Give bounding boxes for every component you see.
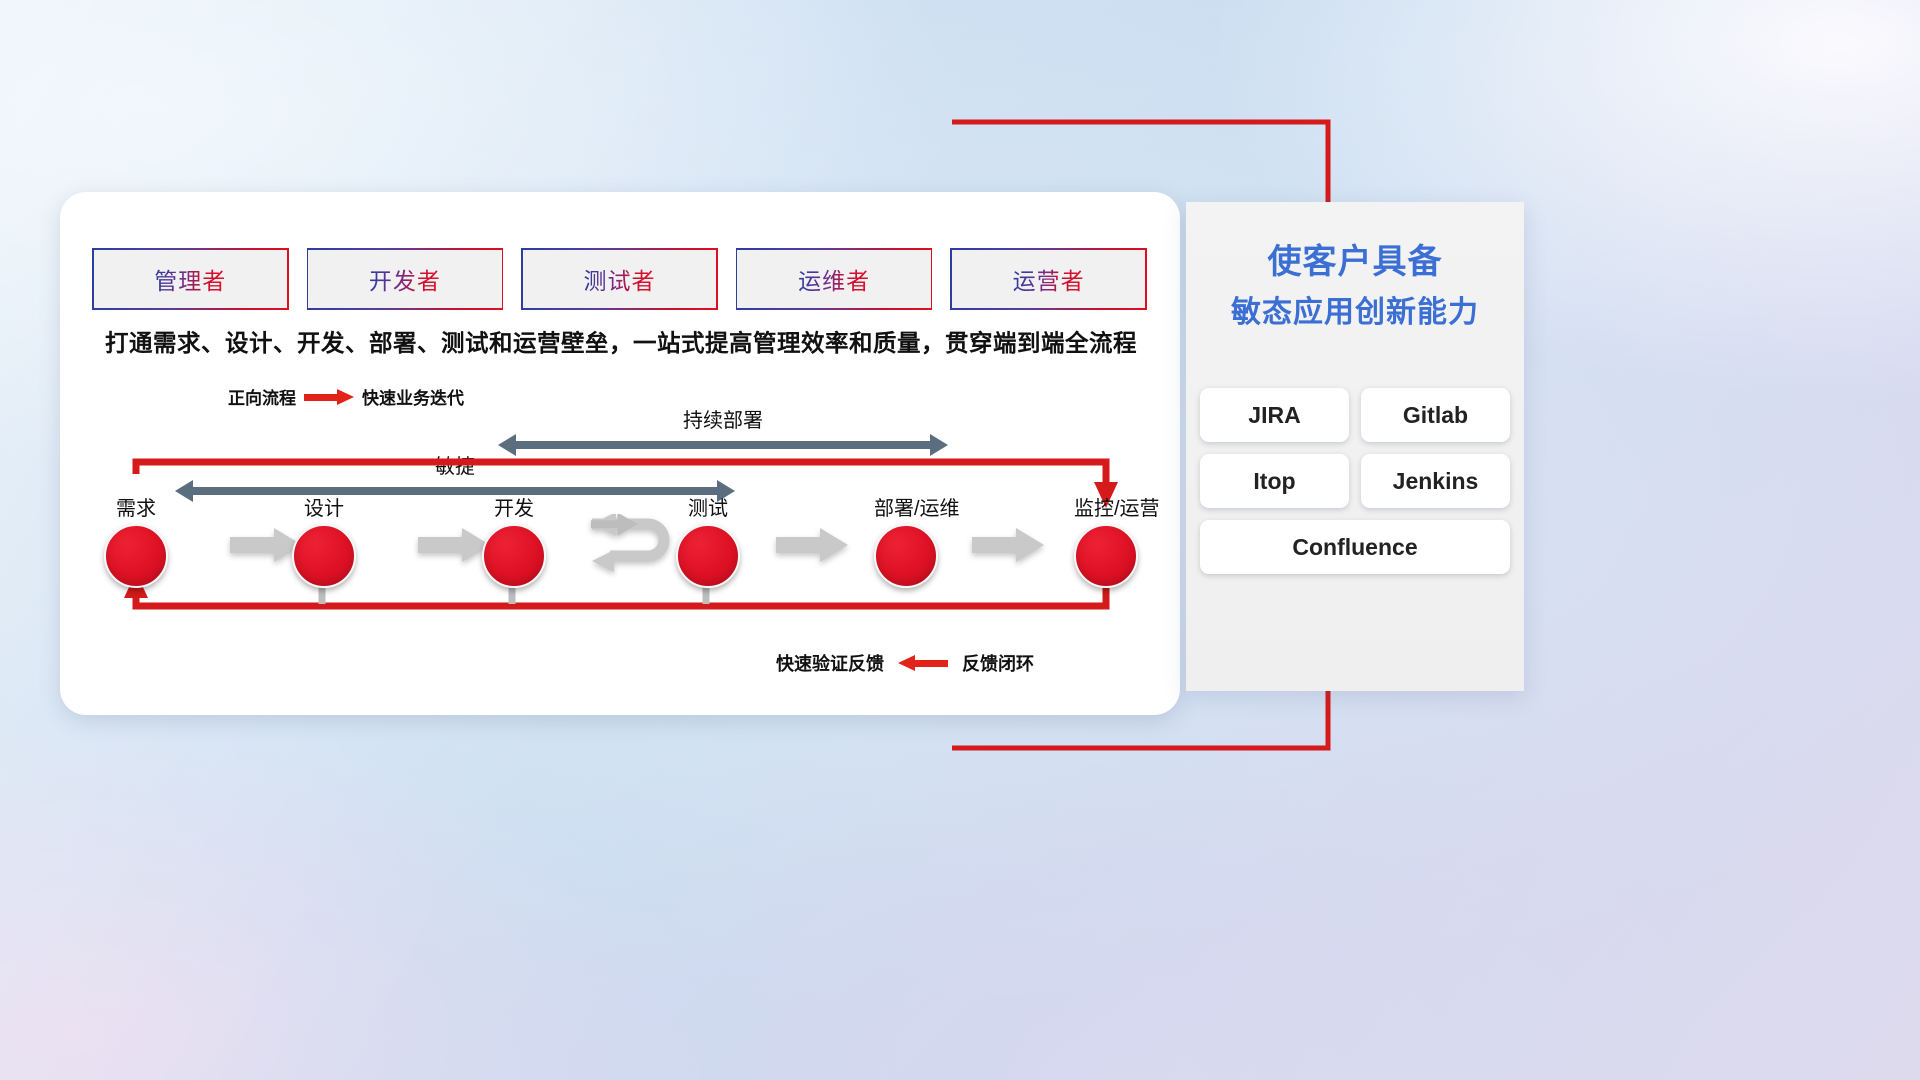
tool-button-list: JIRA Gitlab Itop Jenkins Confluence [1200,388,1510,574]
right-arrow-icon [304,389,354,405]
role-label: 运营者 [1013,262,1085,296]
arrow-right-icon [776,528,848,562]
description-text: 打通需求、设计、开发、部署、测试和运营壁垒，一站式提高管理效率和质量，贯穿端到端… [96,324,1146,358]
legend-feedback-left-label: 快速验证反馈 [776,650,884,676]
pipeline-node-label: 测试 [676,492,740,521]
pipeline-node-dot [104,524,168,588]
legend-feedback-loop: 快速验证反馈 反馈闭环 [776,650,1034,676]
arrow-right-icon [972,528,1044,562]
pipeline-node-5[interactable]: 监控/运营 [1074,492,1138,588]
pipeline-node-label: 需求 [104,492,168,521]
role-box-3[interactable]: 运维者 [736,248,933,310]
tool-button-confluence[interactable]: Confluence [1200,520,1510,574]
tool-button-itop[interactable]: Itop [1200,454,1349,508]
role-box-0[interactable]: 管理者 [92,248,289,310]
tool-button-gitlab[interactable]: Gitlab [1361,388,1510,442]
pipeline-node-dot [482,524,546,588]
legend-forward-flow: 正向流程 快速业务迭代 [228,384,464,409]
pipeline-node-2[interactable]: 开发 [482,492,546,588]
pipeline-node-label: 部署/运维 [874,492,938,521]
pipeline-node-dot [874,524,938,588]
panel-title-line1: 使客户具备 [1268,243,1443,281]
role-label: 管理者 [154,262,226,296]
pipeline-nodes: 需求 设计 开发 测试 [60,492,1180,602]
pipeline-node-1[interactable]: 设计 [292,492,356,588]
panel-title: 使客户具备 敏态应用创新能力 [1186,202,1524,337]
role-boxes: 管理者 开发者 测试者 运维者 运营者 [92,248,1147,310]
pipeline-node-dot [292,524,356,588]
pipeline-node-dot [676,524,740,588]
pipeline-node-label: 开发 [482,492,546,521]
role-label: 开发者 [369,262,441,296]
pipeline-node-label: 监控/运营 [1074,492,1138,521]
left-arrow-icon [898,655,948,671]
loop-back-icon [590,514,682,576]
pipeline-node-4[interactable]: 部署/运维 [874,492,938,588]
role-box-4[interactable]: 运营者 [950,248,1147,310]
panel-title-line2: 敏态应用创新能力 [1231,296,1479,329]
pipeline-node-dot [1074,524,1138,588]
role-box-1[interactable]: 开发者 [307,248,504,310]
span-label: 持续部署 [498,404,948,433]
legend-feedback-right-label: 反馈闭环 [962,650,1034,676]
role-label: 运维者 [798,262,870,296]
legend-forward-right-label: 快速业务迭代 [362,384,464,409]
role-box-2[interactable]: 测试者 [521,248,718,310]
tools-panel: 使客户具备 敏态应用创新能力 JIRA Gitlab Itop Jenkins … [1186,202,1524,691]
pipeline-node-0[interactable]: 需求 [104,492,168,588]
pipeline-node-label: 设计 [292,492,356,521]
tool-button-jenkins[interactable]: Jenkins [1361,454,1510,508]
legend-forward-left-label: 正向流程 [228,384,296,409]
main-diagram-card: 管理者 开发者 测试者 运维者 运营者 打通需求、设计、开发、部署、测试和运营壁… [60,192,1180,715]
pipeline-node-3[interactable]: 测试 [676,492,740,588]
tool-button-jira[interactable]: JIRA [1200,388,1349,442]
arrow-right-icon [418,528,490,562]
role-label: 测试者 [583,262,655,296]
span-label: 敏捷 [175,450,735,479]
